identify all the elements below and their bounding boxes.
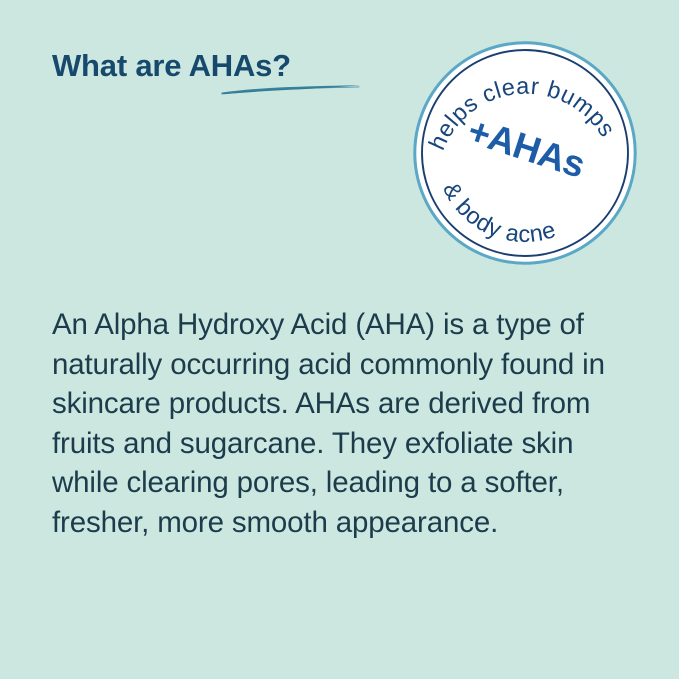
brush-underline-icon bbox=[220, 83, 362, 97]
infographic-canvas: What are AHAs? helps clear bumps bbox=[0, 0, 679, 679]
page-title: What are AHAs? bbox=[52, 46, 412, 86]
heading-block: What are AHAs? bbox=[52, 46, 412, 116]
aha-seal-badge: helps clear bumps & body acne +AHAs bbox=[412, 40, 638, 266]
body-paragraph: An Alpha Hydroxy Acid (AHA) is a type of… bbox=[52, 305, 612, 542]
